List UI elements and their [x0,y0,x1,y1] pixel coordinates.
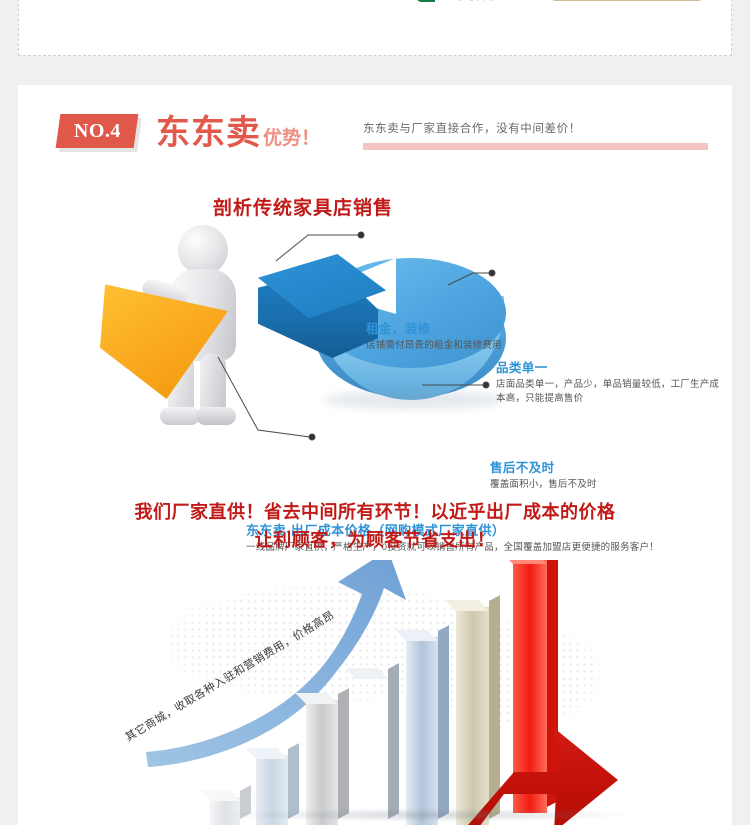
bar-top [445,600,489,611]
fujiameijia-logo: ◉ 富家美佳 FUJIAMEIJIA [552,0,702,1]
brand-logo-row: ifree 爱睿 爱 AILIGONG —愛麗宮— AISTIN 爱尚妮 ◉ [19,0,731,11]
bar-top [245,748,288,759]
aistin-logo: AISTIN 爱尚妮 [416,0,495,2]
brand-logo-panel: ifree 爱睿 爱 AILIGONG —愛麗宮— AISTIN 爱尚妮 ◉ [18,0,732,56]
bar-top [199,790,240,801]
aistin-chinese-name: 爱尚妮 [438,0,495,2]
bar-top [345,668,388,679]
callout-aftersales-title: 售后不及时 [490,457,700,476]
callout-rent-desc: 店铺需付昂贵的租金和装修费用 [366,339,576,353]
aistin-text: AISTIN 爱尚妮 [438,0,495,2]
callout-category: 品类单一 店面品类单一，产品少，单品销量较低，工厂生产成本高，只能提高售价 [496,357,726,406]
chart-floor-shadow [218,808,638,822]
callout-category-title: 品类单一 [496,357,726,376]
slogan-block: 我们厂家直供！省去中间所有环节！以近乎出厂成本的价格 让利顾客，为顾客节省支出！ [18,499,732,555]
callout-rent-title: 租金，装修 [366,318,576,337]
callout-leader-lines [18,85,732,505]
main-content-panel: NO.4 东东卖 优势！ 东东卖与厂家直接合作，没有中间差价！ 剖析传统家具店销… [18,85,732,825]
ailigong-logo: 爱 AILIGONG —愛麗宮— [254,0,359,2]
aistin-hook-icon [416,0,435,2]
callout-category-desc: 店面品类单一，产品少，单品销量较低，工厂生产成本高，只能提高售价 [496,378,726,406]
page-root: ifree 爱睿 爱 AILIGONG —愛麗宮— AISTIN 爱尚妮 ◉ [0,0,750,821]
bar-chart-section: 其它商城，收取各种入驻和营销费用，价格高昂 [18,560,732,825]
callout-rent: 租金，装修 店铺需付昂贵的租金和装修费用 [366,318,576,353]
slogan-line-1: 我们厂家直供！省去中间所有环节！以近乎出厂成本的价格 [18,499,732,527]
bar-top [502,560,547,564]
bar-top [295,693,338,704]
bar-top [395,630,438,641]
callout-aftersales: 售后不及时 覆盖面积小，售后不及时 [490,457,700,492]
callout-aftersales-desc: 覆盖面积小，售后不及时 [490,478,700,492]
slogan-line-2: 让利顾客，为顾客节省支出！ [18,527,732,555]
